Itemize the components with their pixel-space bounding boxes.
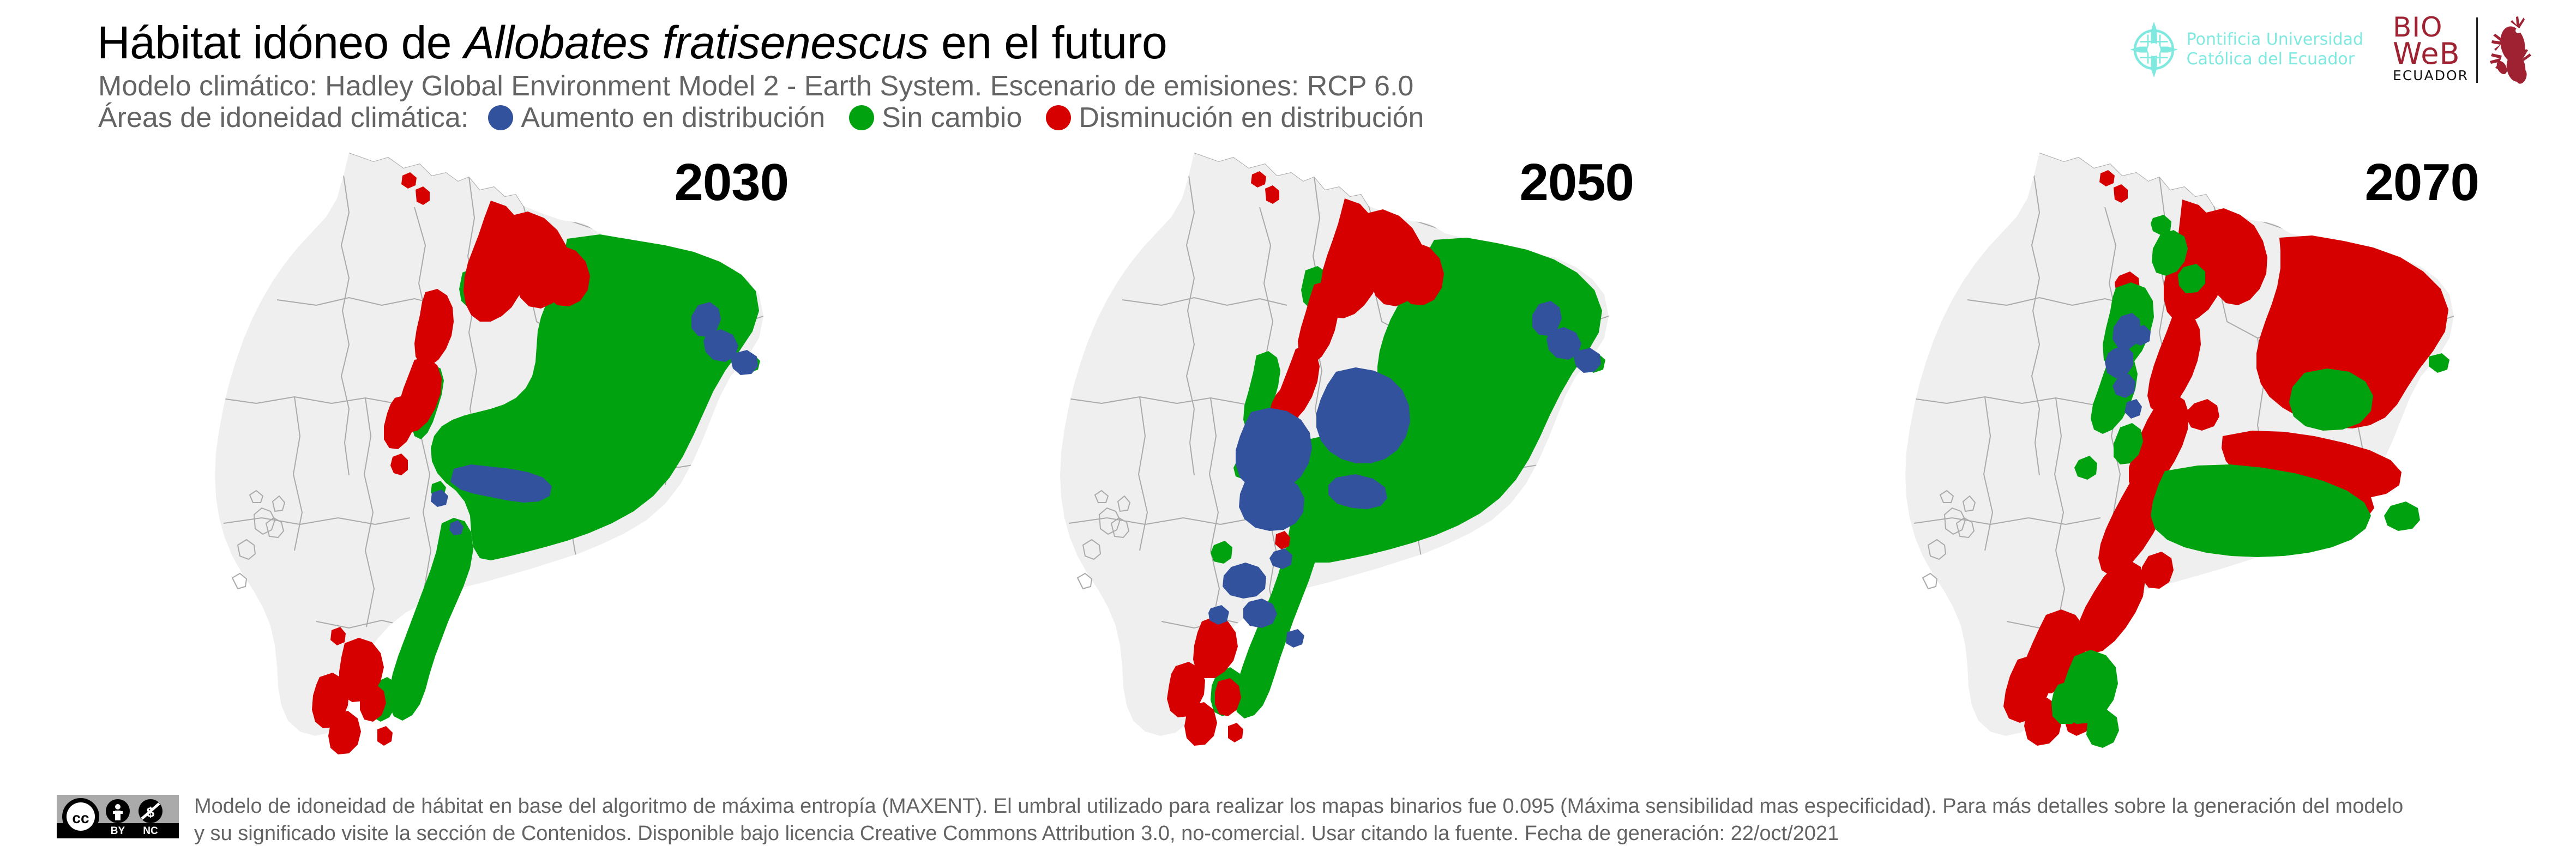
- svg-text:NC: NC: [143, 825, 158, 837]
- map-year-label-2030: 2030: [674, 153, 789, 213]
- legend-item-no-change: Sin cambio: [849, 101, 1022, 134]
- creative-commons-by-nc-badge-icon[interactable]: cc $ BY NC: [57, 795, 179, 838]
- title-species-name: Allobates fratisenescus: [464, 17, 929, 68]
- legend-item-increase: Aumento en distribución: [488, 101, 825, 134]
- legend-label-no-change: Sin cambio: [882, 101, 1022, 134]
- page-title: Hábitat idóneo de Allobates fratisenescu…: [97, 16, 1167, 69]
- climate-model-subtitle: Modelo climático: Hadley Global Environm…: [98, 70, 1413, 102]
- bioweb-logo: BIO WeB ECUADOR: [2393, 15, 2532, 84]
- legend-caption: Áreas de idoneidad climática:: [98, 101, 468, 134]
- poster-page: Hábitat idóneo de Allobates fratisenescu…: [0, 0, 2576, 858]
- circle-marker-icon-decrease: [1046, 105, 1071, 130]
- map-panels-container: 2030: [0, 142, 2576, 785]
- map-panel-2050[interactable]: 2050: [1031, 142, 1652, 785]
- map-panel-2070[interactable]: 2070: [1876, 142, 2497, 785]
- ecuador-suitability-map-2070[interactable]: [1876, 142, 2497, 785]
- map-legend: Áreas de idoneidad climática: Aumento en…: [98, 101, 1448, 134]
- footer-line-1: Modelo de idoneidad de hábitat en base d…: [194, 793, 2403, 820]
- poster-header: Hábitat idóneo de Allobates fratisenescu…: [0, 0, 2576, 142]
- puce-cross-emblem-icon: [2129, 20, 2179, 80]
- puce-logo-line1: Pontificia Universidad: [2187, 30, 2363, 50]
- circle-marker-icon-no-change: [849, 105, 874, 130]
- title-prefix: Hábitat idóneo de: [97, 17, 464, 68]
- bioweb-logo-web: WeB: [2393, 40, 2460, 68]
- ecuador-suitability-map-2050[interactable]: [1031, 142, 1652, 785]
- legend-label-increase: Aumento en distribución: [521, 101, 825, 134]
- bioweb-logo-text: BIO WeB ECUADOR: [2393, 15, 2469, 84]
- footer-line-2: y su significado visite la sección de Co…: [194, 820, 2403, 847]
- puce-logo-line2: Católica del Ecuador: [2187, 50, 2363, 70]
- legend-label-decrease: Disminución en distribución: [1079, 101, 1424, 134]
- frog-silhouette-icon: [2485, 15, 2532, 84]
- map-year-label-2070: 2070: [2364, 153, 2479, 213]
- map-year-label-2050: 2050: [1519, 153, 1634, 213]
- map-panel-2030[interactable]: 2030: [185, 142, 807, 785]
- footer-disclaimer: Modelo de idoneidad de hábitat en base d…: [194, 793, 2403, 847]
- bioweb-logo-divider: [2476, 17, 2478, 83]
- puce-logo: Pontificia Universidad Católica del Ecua…: [2129, 20, 2363, 80]
- legend-item-decrease: Disminución en distribución: [1046, 101, 1424, 134]
- svg-text:cc: cc: [72, 809, 89, 826]
- svg-text:BY: BY: [111, 825, 125, 837]
- title-suffix: en el futuro: [929, 17, 1167, 68]
- ecuador-suitability-map-2030[interactable]: [185, 142, 807, 785]
- puce-logo-text: Pontificia Universidad Católica del Ecua…: [2187, 30, 2363, 70]
- poster-footer: cc $ BY NC Modelo de idoneidad de hábita…: [0, 785, 2576, 858]
- bioweb-logo-ecuador: ECUADOR: [2393, 68, 2469, 84]
- logo-group: Pontificia Universidad Católica del Ecua…: [2129, 15, 2532, 84]
- circle-marker-icon-increase: [488, 105, 513, 130]
